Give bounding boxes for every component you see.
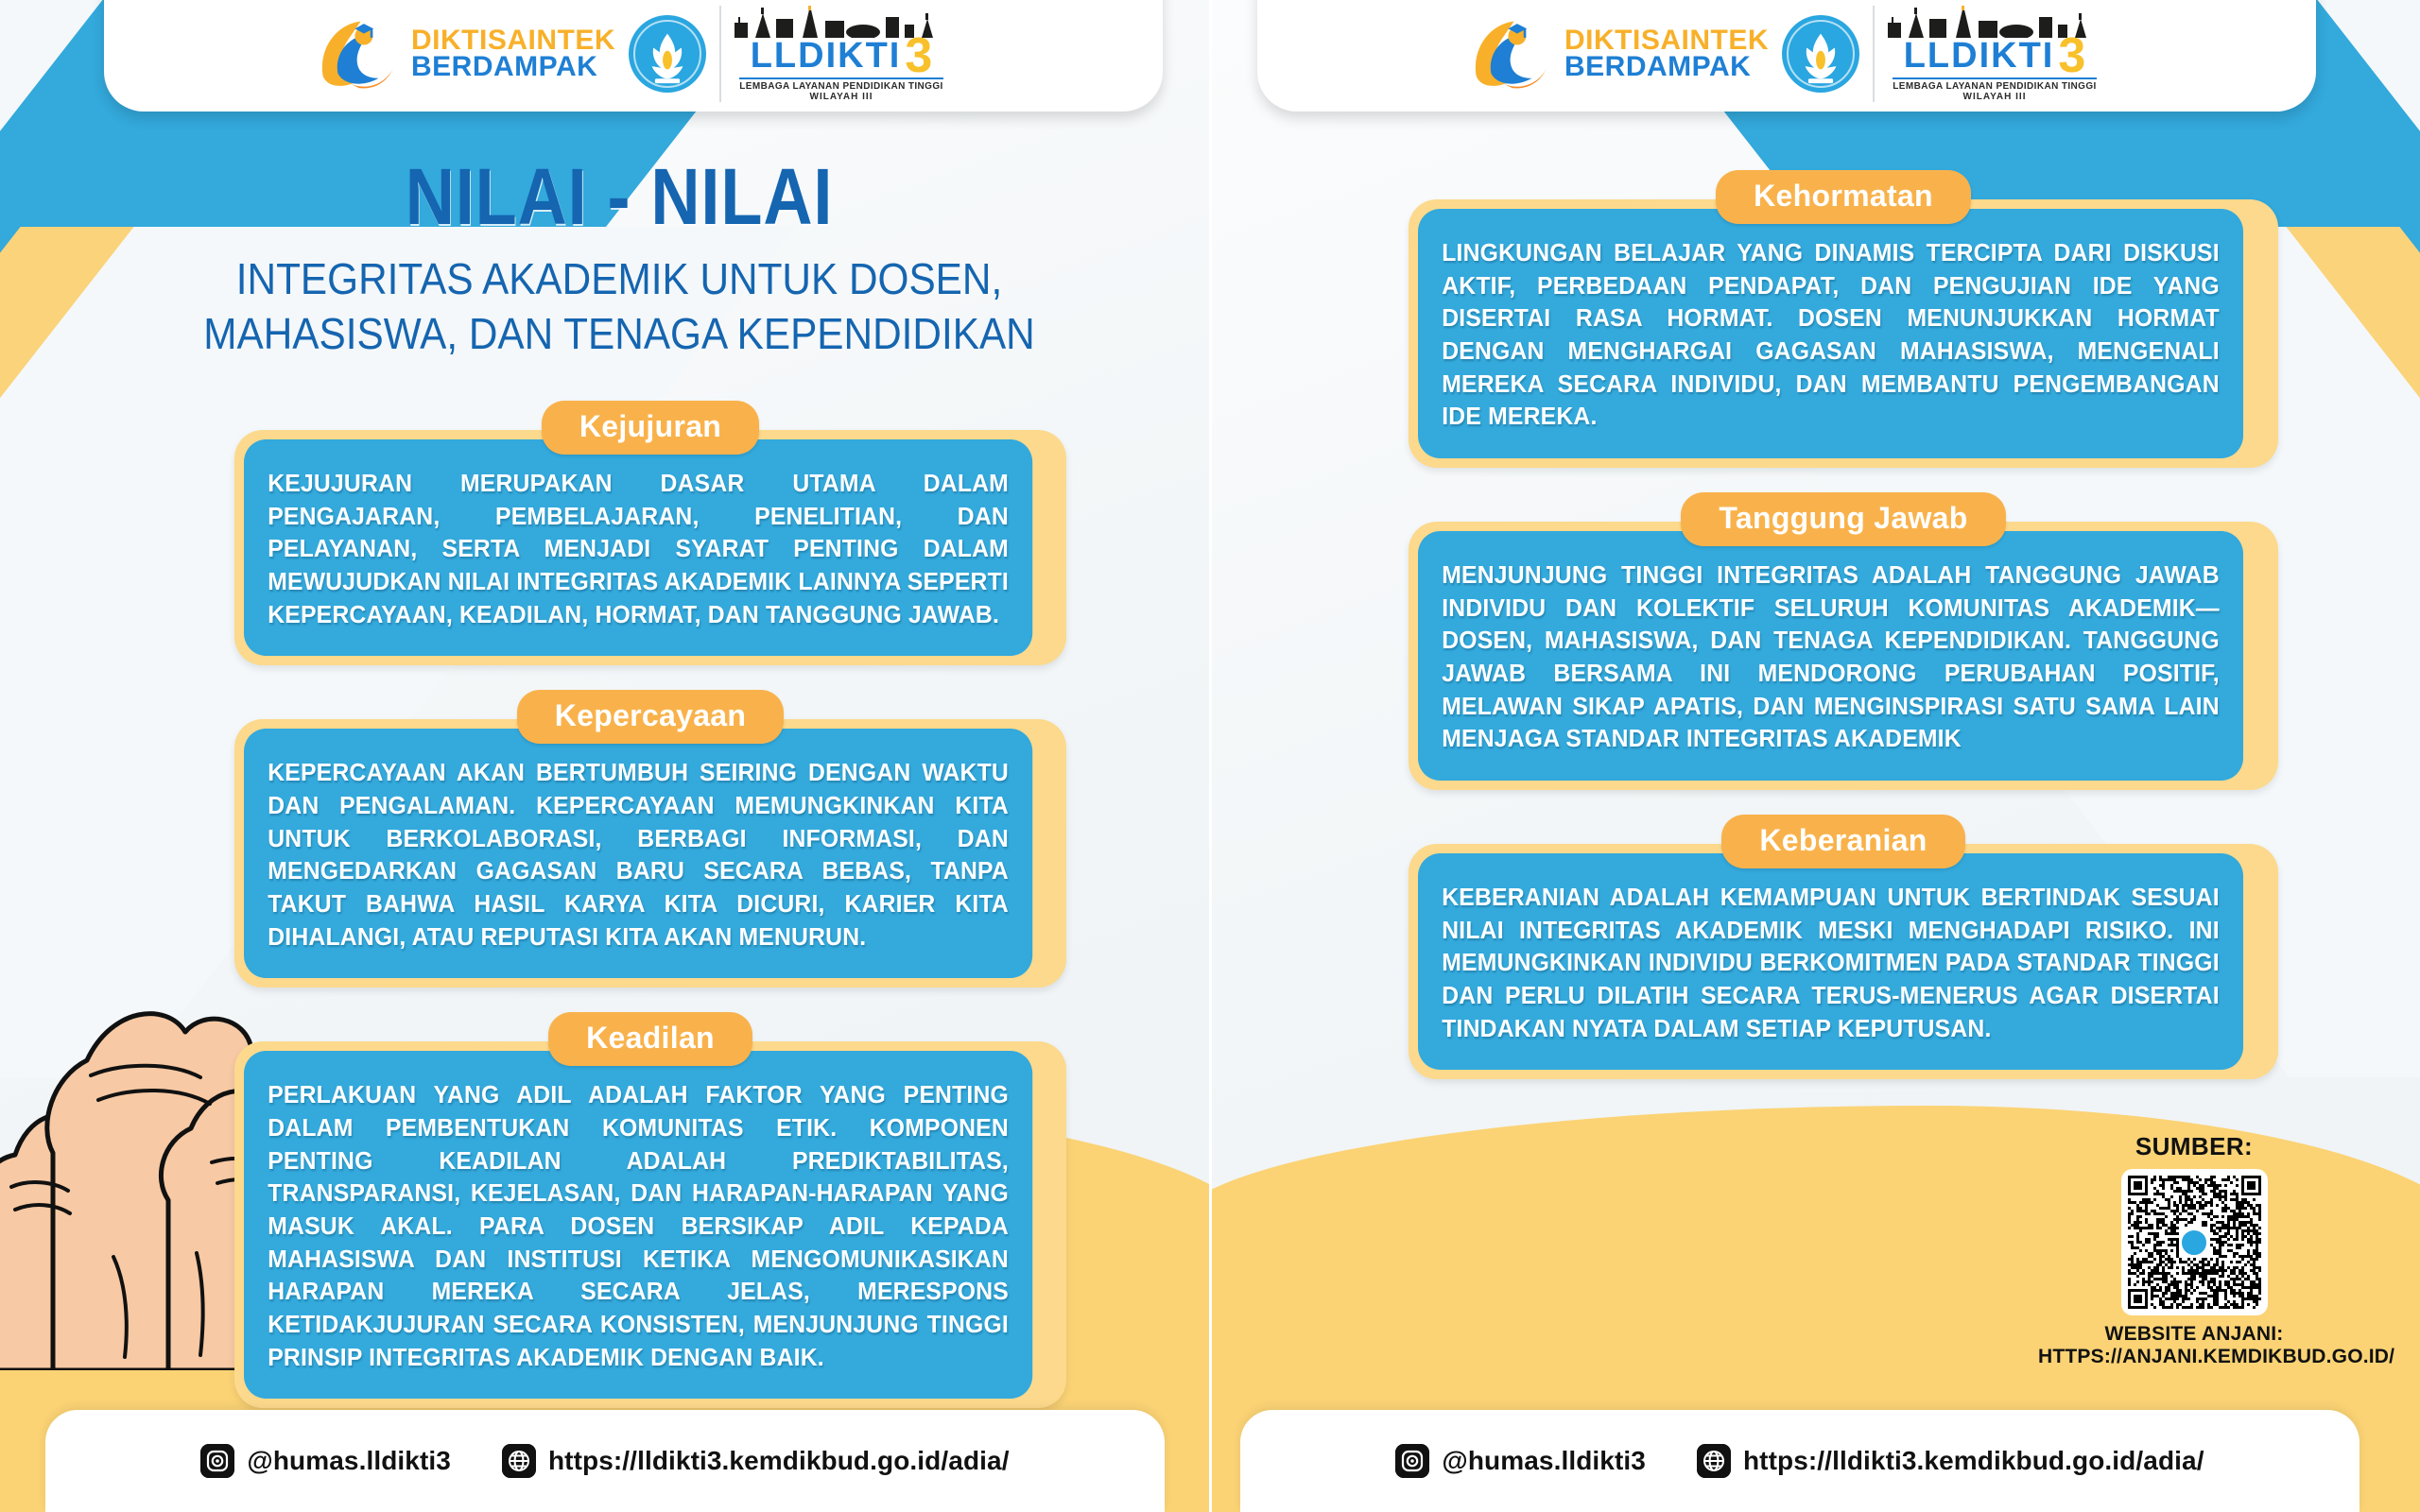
- footer-instagram[interactable]: @humas.lldikti3: [200, 1444, 451, 1478]
- diktisaintek-wordmark: DIKTISAINTEK BERDAMPAK: [411, 27, 615, 80]
- footer-bar-right: @humas.lldikti3 https://lldikti3.kemdikb…: [1240, 1410, 2359, 1512]
- lldikti-number-right: 3: [2058, 37, 2085, 77]
- value-card: KejujuranKEJUJURAN MERUPAKAN DASAR UTAMA…: [234, 401, 1066, 665]
- lldikti-wordmark: LLDIKTI 3: [751, 36, 933, 77]
- value-card-frame: LINGKUNGAN BELAJAR YANG DINAMIS TERCIPTA…: [1409, 199, 2278, 468]
- values-column-right: KehormatanLINGKUNGAN BELAJAR YANG DINAMI…: [1409, 170, 2278, 1104]
- skyline-icon-right: [1886, 6, 2103, 36]
- value-card: Tanggung JawabMENJUNJUNG TINGGI INTEGRIT…: [1409, 492, 2278, 790]
- source-block: SUMBER: WEBSITE ANJANI: HTTPS://ANJANI.K…: [2038, 1132, 2350, 1368]
- value-card: KepercayaanKEPERCAYAAN AKAN BERTUMBUH SE…: [234, 690, 1066, 988]
- qr-center-emblem-icon: [2179, 1228, 2209, 1258]
- value-card-body: MENJUNJUNG TINGGI INTEGRITAS ADALAH TANG…: [1418, 531, 2243, 781]
- header-logo-card: DIKTISAINTEK BERDAMPAK: [104, 0, 1163, 112]
- skyline-icon: [733, 6, 950, 36]
- diktisaintek-logo-icon-right: [1470, 13, 1551, 94]
- source-label: SUMBER:: [2038, 1132, 2350, 1161]
- value-card-body: LINGKUNGAN BELAJAR YANG DINAMIS TERCIPTA…: [1418, 209, 2243, 458]
- diktisaintek-line1-right: DIKTISAINTEK: [1564, 27, 1769, 54]
- page-subtitle-line2: MAHASISWA, DAN TENAGA KEPENDIDIKAN: [136, 307, 1101, 362]
- value-card-body: KEJUJURAN MERUPAKAN DASAR UTAMA DALAM PE…: [244, 439, 1032, 656]
- diktisaintek-line1: DIKTISAINTEK: [411, 27, 615, 54]
- globe-icon-right: [1697, 1444, 1731, 1478]
- logo-row: DIKTISAINTEK BERDAMPAK: [317, 6, 950, 102]
- lldikti-word-right: LLDIKTI: [1904, 36, 2055, 77]
- value-card: KehormatanLINGKUNGAN BELAJAR YANG DINAMI…: [1409, 170, 2278, 468]
- panel-divider: [1209, 0, 1212, 1512]
- lldikti-sub2-right: WILAYAH III: [1963, 92, 2027, 102]
- lldikti-wordmark-right: LLDIKTI 3: [1904, 36, 2086, 77]
- lldikti-sub2: WILAYAH III: [810, 92, 873, 102]
- tut-wuri-handayani-emblem-icon: [629, 15, 706, 93]
- title-block: NILAI - NILAI INTEGRITAS AKADEMIK UNTUK …: [95, 151, 1144, 361]
- globe-icon: [502, 1444, 536, 1478]
- instagram-handle-right: @humas.lldikti3: [1442, 1446, 1646, 1476]
- source-website-url: HTTPS://ANJANI.KEMDIKBUD.GO.ID/: [2038, 1346, 2350, 1368]
- value-card-heading: Kejujuran: [542, 401, 759, 455]
- value-card: KeadilanPERLAKUAN YANG ADIL ADALAH FAKTO…: [234, 1012, 1066, 1408]
- value-card-heading: Kehormatan: [1716, 170, 1971, 224]
- source-website-label: WEBSITE ANJANI:: [2038, 1323, 2350, 1346]
- value-card-heading: Tanggung Jawab: [1681, 492, 2005, 546]
- lldikti-sub1-right: LEMBAGA LAYANAN PENDIDIKAN TINGGI: [1893, 77, 2096, 92]
- qr-code[interactable]: [2121, 1169, 2268, 1315]
- header-logo-card-right: DIKTISAINTEK BERDAMPAK: [1257, 0, 2316, 112]
- diktisaintek-logo-icon: [317, 13, 398, 94]
- value-card-body: PERLAKUAN YANG ADIL ADALAH FAKTOR YANG P…: [244, 1051, 1032, 1399]
- value-card-heading: Keberanian: [1721, 815, 1964, 868]
- diktisaintek-line2: BERDAMPAK: [411, 54, 615, 80]
- diktisaintek-wordmark-right: DIKTISAINTEK BERDAMPAK: [1564, 27, 1769, 80]
- page-title: NILAI - NILAI: [168, 151, 1071, 243]
- diktisaintek-line2-right: BERDAMPAK: [1564, 54, 1769, 80]
- footer-website-right[interactable]: https://lldikti3.kemdikbud.go.id/adia/: [1697, 1444, 2204, 1478]
- lldikti-sub1: LEMBAGA LAYANAN PENDIDIKAN TINGGI: [739, 77, 942, 92]
- value-card-frame: KEJUJURAN MERUPAKAN DASAR UTAMA DALAM PE…: [234, 430, 1066, 665]
- value-card-frame: PERLAKUAN YANG ADIL ADALAH FAKTOR YANG P…: [234, 1041, 1066, 1408]
- poster-root: DIKTISAINTEK BERDAMPAK: [0, 0, 2420, 1512]
- value-card-frame: MENJUNJUNG TINGGI INTEGRITAS ADALAH TANG…: [1409, 522, 2278, 790]
- footer-website[interactable]: https://lldikti3.kemdikbud.go.id/adia/: [502, 1444, 1010, 1478]
- instagram-icon: [200, 1444, 234, 1478]
- page-subtitle: INTEGRITAS AKADEMIK UNTUK DOSEN, MAHASIS…: [136, 252, 1101, 361]
- instagram-icon-right: [1395, 1444, 1429, 1478]
- page-subtitle-line1: INTEGRITAS AKADEMIK UNTUK DOSEN,: [136, 252, 1101, 307]
- values-column-left: KejujuranKEJUJURAN MERUPAKAN DASAR UTAMA…: [234, 401, 1066, 1433]
- value-card-heading: Kepercayaan: [517, 690, 785, 744]
- value-card-body: KEPERCAYAAN AKAN BERTUMBUH SEIRING DENGA…: [244, 729, 1032, 978]
- footer-website-url: https://lldikti3.kemdikbud.go.id/adia/: [548, 1446, 1010, 1476]
- logo-row-right: DIKTISAINTEK BERDAMPAK: [1470, 6, 2103, 102]
- footer-instagram-right[interactable]: @humas.lldikti3: [1395, 1444, 1646, 1478]
- lldikti-word: LLDIKTI: [751, 36, 902, 77]
- value-card-heading: Keadilan: [548, 1012, 752, 1066]
- footer-bar-left: @humas.lldikti3 https://lldikti3.kemdikb…: [45, 1410, 1165, 1512]
- value-card-frame: KEBERANIAN ADALAH KEMAMPUAN UNTUK BERTIN…: [1409, 844, 2278, 1079]
- value-card-body: KEBERANIAN ADALAH KEMAMPUAN UNTUK BERTIN…: [1418, 853, 2243, 1070]
- value-card: KeberanianKEBERANIAN ADALAH KEMAMPUAN UN…: [1409, 815, 2278, 1079]
- lldikti3-logo: LLDIKTI 3 LEMBAGA LAYANAN PENDIDIKAN TIN…: [719, 6, 950, 102]
- value-card-frame: KEPERCAYAAN AKAN BERTUMBUH SEIRING DENGA…: [234, 719, 1066, 988]
- tut-wuri-handayani-emblem-icon-right: [1782, 15, 1859, 93]
- footer-website-url-right: https://lldikti3.kemdikbud.go.id/adia/: [1743, 1446, 2204, 1476]
- lldikti3-logo-right: LLDIKTI 3 LEMBAGA LAYANAN PENDIDIKAN TIN…: [1873, 6, 2103, 102]
- instagram-handle: @humas.lldikti3: [247, 1446, 451, 1476]
- lldikti-number: 3: [905, 37, 932, 77]
